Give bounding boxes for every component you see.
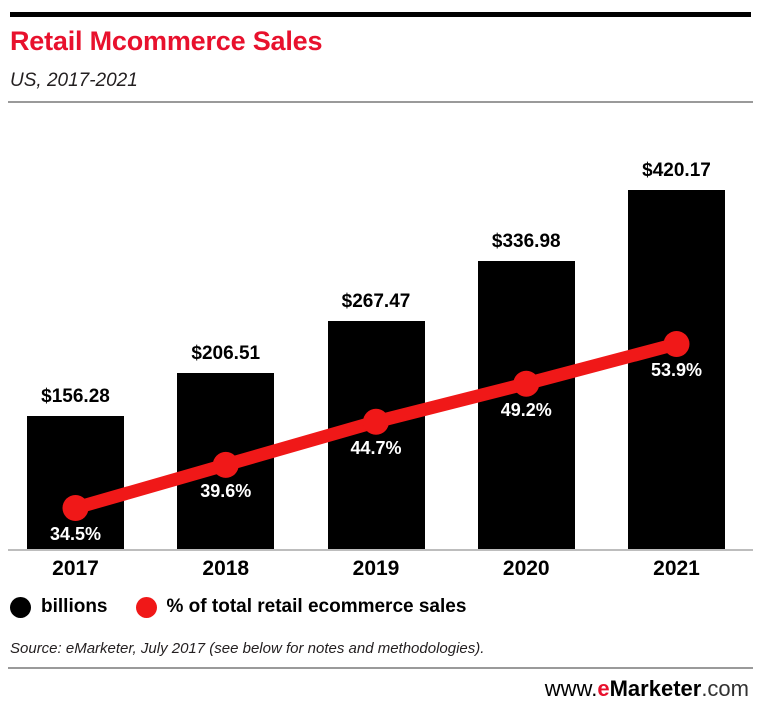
line-marker-2018 bbox=[213, 452, 239, 478]
chart-page: Retail Mcommerce Sales US, 2017-2021 $15… bbox=[0, 0, 761, 714]
percent-label-2021: 53.9% bbox=[607, 360, 747, 381]
brand-www: www. bbox=[545, 676, 598, 701]
bar-value-label-2017: $156.28 bbox=[6, 386, 146, 408]
black-circle-icon bbox=[10, 597, 31, 618]
line-marker-2019 bbox=[363, 409, 389, 435]
percent-label-2017: 34.5% bbox=[6, 524, 146, 545]
brand-marketer: Marketer bbox=[610, 676, 702, 701]
percent-label-2019: 44.7% bbox=[306, 438, 446, 459]
bar-2017 bbox=[27, 416, 124, 550]
bar-value-label-2021: $420.17 bbox=[607, 160, 747, 182]
line-marker-2020 bbox=[513, 371, 539, 397]
legend-label-percent: % of total retail ecommerce sales bbox=[167, 596, 467, 618]
x-tick-label-2018: 2018 bbox=[166, 557, 286, 581]
legend-item-percent: % of total retail ecommerce sales bbox=[136, 596, 467, 618]
legend-label-billions: billions bbox=[41, 596, 108, 618]
chart-subtitle: US, 2017-2021 bbox=[10, 70, 138, 92]
bar-2018 bbox=[177, 373, 274, 550]
x-axis-line bbox=[8, 549, 753, 551]
x-tick-label-2017: 2017 bbox=[16, 557, 136, 581]
red-circle-icon bbox=[136, 597, 157, 618]
header-divider bbox=[8, 101, 753, 103]
chart-legend: billions % of total retail ecommerce sal… bbox=[10, 596, 466, 618]
brand-com: .com bbox=[701, 676, 749, 701]
bar-value-label-2020: $336.98 bbox=[456, 231, 596, 253]
bar-2019 bbox=[328, 321, 425, 550]
bar-2020 bbox=[478, 261, 575, 550]
x-tick-label-2021: 2021 bbox=[617, 557, 737, 581]
line-marker-2021 bbox=[664, 331, 690, 357]
page-title: Retail Mcommerce Sales bbox=[10, 26, 322, 57]
top-rule-divider bbox=[10, 12, 751, 17]
bar-2021 bbox=[628, 190, 725, 550]
footer-divider bbox=[8, 667, 753, 669]
percent-label-2020: 49.2% bbox=[456, 400, 596, 421]
brand-e: e bbox=[597, 676, 609, 701]
bar-value-label-2019: $267.47 bbox=[306, 291, 446, 313]
percent-label-2018: 39.6% bbox=[156, 481, 296, 502]
line-marker-2017 bbox=[63, 495, 89, 521]
x-tick-label-2020: 2020 bbox=[466, 557, 586, 581]
x-tick-label-2019: 2019 bbox=[316, 557, 436, 581]
brand-url: www.eMarketer.com bbox=[545, 676, 749, 702]
legend-item-billions: billions bbox=[10, 596, 108, 618]
bar-value-label-2018: $206.51 bbox=[156, 343, 296, 365]
source-note: Source: eMarketer, July 2017 (see below … bbox=[10, 640, 484, 657]
